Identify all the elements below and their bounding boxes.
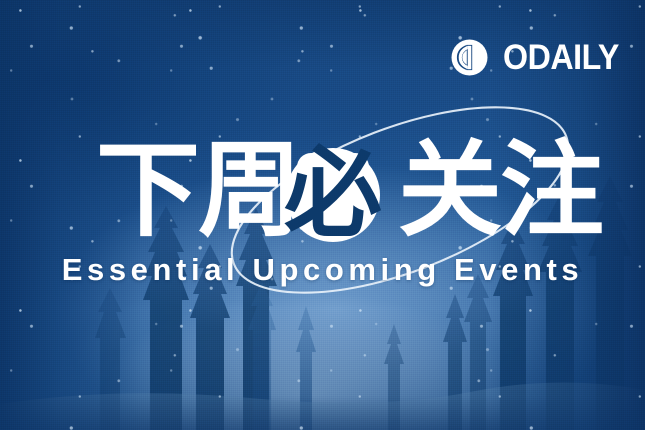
odaily-logo-lockup[interactable]: ODAILY [447, 35, 629, 80]
headline-char-xia: 下 [96, 134, 200, 251]
odaily-wordmark: ODAILY [503, 40, 619, 75]
odaily-event-banner: 下 周 必 关 注 Essential Upcoming Events [0, 0, 645, 430]
headline-char-zhu: 注 [500, 134, 604, 251]
headline-char-bi: 必 [284, 137, 382, 251]
odaily-circle-d-logo-icon [447, 35, 492, 80]
headline-char-guan: 关 [398, 134, 502, 251]
headline-badge-bi: 必 [284, 137, 382, 251]
headline-chinese-title: 下 周 必 关 注 [0, 134, 645, 252]
subtitle-english: Essential Upcoming Events [0, 252, 645, 288]
